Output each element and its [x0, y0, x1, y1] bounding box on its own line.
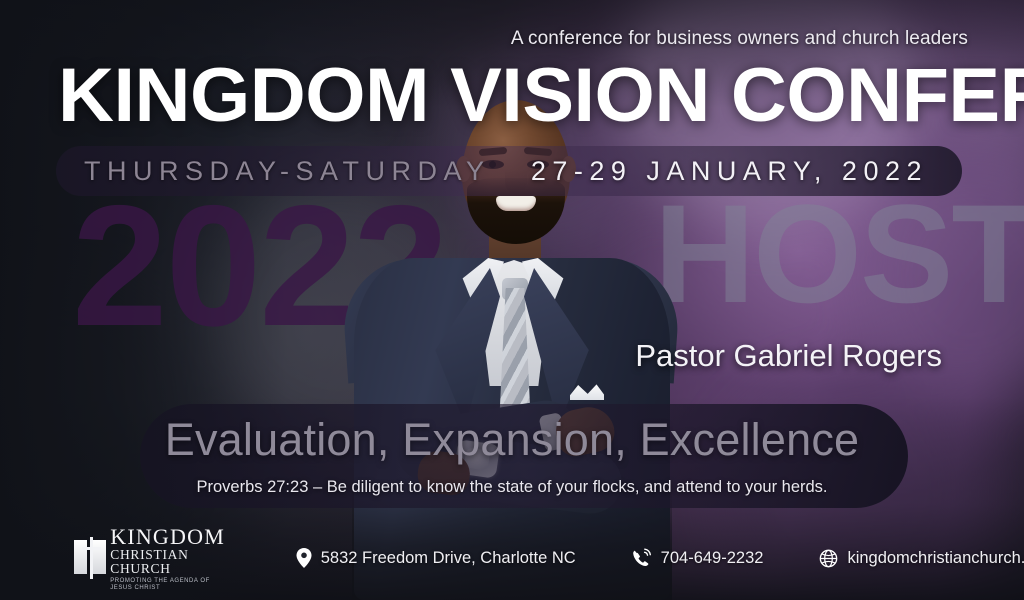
watermark-host: HOST	[654, 198, 1024, 310]
logo-tagline: PROMOTING THE AGENDA OF JESUS CHRIST	[110, 578, 232, 591]
contact-website[interactable]: kingdomchristianchurch.org	[819, 549, 1024, 568]
globe-icon	[819, 549, 838, 568]
conference-poster: 2022 HOST A conference for business o	[0, 0, 1024, 600]
host-name: Pastor Gabriel Rogers	[635, 338, 942, 374]
theme-text: Evaluation, Expansion, Excellence	[0, 414, 1024, 466]
contact-website-label: kingdomchristianchurch.org	[847, 549, 1024, 568]
footer-bar: KINGDOM CHRISTIAN CHURCH PROMOTING THE A…	[0, 516, 1024, 600]
contact-list: 5832 Freedom Drive, Charlotte NC 704-649…	[296, 548, 1024, 568]
church-logo: KINGDOM CHRISTIAN CHURCH PROMOTING THE A…	[74, 525, 232, 591]
scripture-verse: Proverbs 27:23 – Be diligent to know the…	[0, 478, 1024, 497]
contact-address-label: 5832 Freedom Drive, Charlotte NC	[321, 549, 576, 568]
date-days: THURSDAY-SATURDAY	[84, 156, 491, 187]
logo-line-christian-church: CHRISTIAN CHURCH	[110, 548, 232, 576]
contact-phone-label: 704-649-2232	[661, 549, 764, 568]
map-pin-icon	[296, 548, 312, 568]
contact-address[interactable]: 5832 Freedom Drive, Charlotte NC	[296, 548, 576, 568]
tagline: A conference for business owners and chu…	[511, 28, 968, 50]
phone-ringing-icon	[632, 548, 652, 568]
contact-phone[interactable]: 704-649-2232	[632, 548, 764, 568]
date-full: 27-29 JANUARY, 2022	[531, 156, 928, 187]
logo-line-kingdom: KINGDOM	[110, 525, 232, 548]
cross-book-icon	[74, 537, 101, 579]
date-banner: THURSDAY-SATURDAY 27-29 JANUARY, 2022	[56, 146, 962, 196]
page-title: KINGDOM VISION CONFERENCE	[58, 52, 996, 139]
